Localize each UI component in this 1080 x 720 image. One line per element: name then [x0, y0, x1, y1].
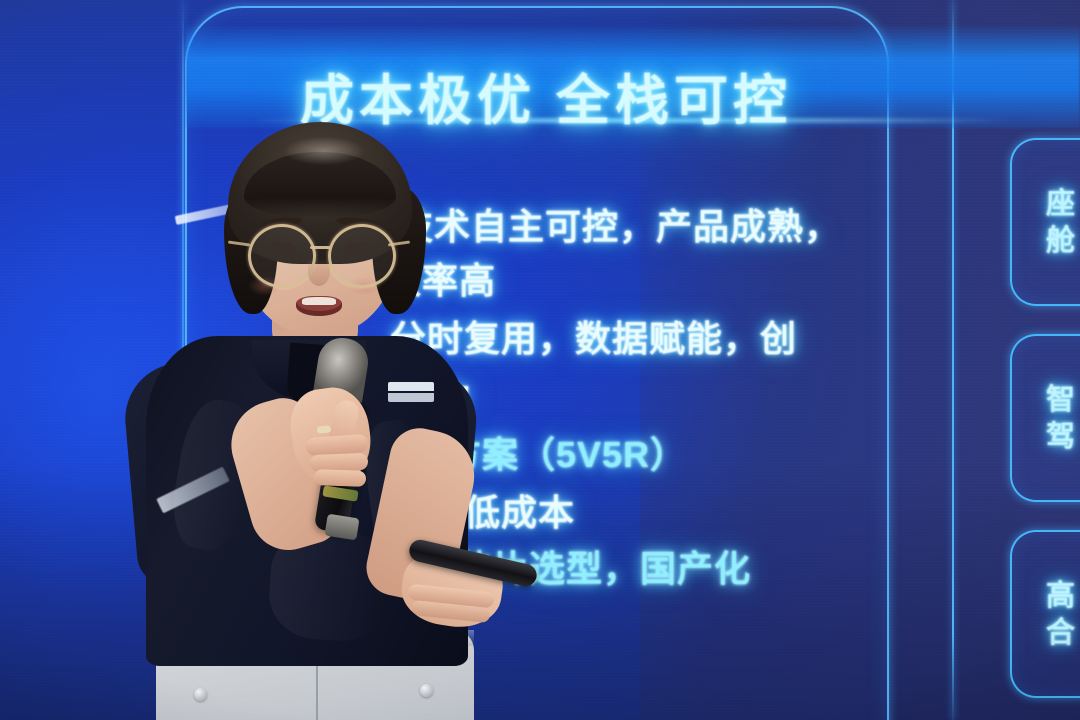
stage-photo: 成本极优 全栈可控 心技术自主可控，产品成熟， 发效率高 分时复用，数据赋能，创…	[0, 0, 1080, 720]
photo-vignette	[0, 0, 1080, 720]
